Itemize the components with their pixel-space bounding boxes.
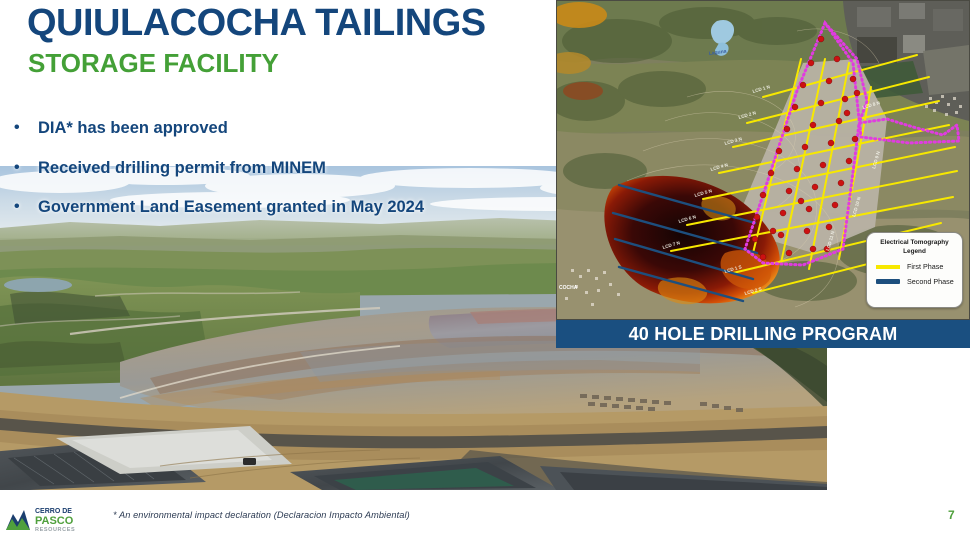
list-item: • DIA* has been approved (12, 118, 532, 139)
first-phase-swatch-icon (876, 265, 900, 269)
slide-root: QUIULACOCHA TAILINGS STORAGE FACILITY • … (0, 0, 978, 538)
svg-text:COCHA: COCHA (559, 285, 578, 291)
list-item: • Government Land Easement granted in Ma… (12, 197, 532, 218)
bullet-marker-icon: • (12, 158, 38, 178)
banner-label: 40 HOLE DRILLING PROGRAM (629, 324, 898, 345)
legend-entry-first-phase: First Phase (872, 262, 957, 271)
legend-title-line1: Electrical Tomography (880, 239, 948, 246)
page-title: QUIULACOCHA TAILINGS (27, 4, 486, 44)
company-logo: CERRO DE PASCO RESOURCES (5, 504, 77, 534)
list-item: • Received drilling permit from MINEM (12, 158, 532, 179)
legend-entry-label: First Phase (907, 262, 943, 271)
svg-text:PASCO: PASCO (35, 515, 74, 527)
second-phase-swatch-icon (876, 279, 900, 284)
list-item-label: Government Land Easement granted in May … (38, 197, 424, 218)
svg-text:CERRO DE: CERRO DE (35, 508, 72, 515)
map-legend: Electrical Tomography Legend First Phase… (866, 232, 963, 308)
page-number: 7 (948, 508, 955, 522)
list-item-label: DIA* has been approved (38, 118, 228, 139)
bullet-marker-icon: • (12, 197, 38, 217)
legend-title-line2: Legend (903, 248, 926, 255)
list-item-label: Received drilling permit from MINEM (38, 158, 326, 179)
svg-text:RESOURCES: RESOURCES (35, 527, 75, 533)
page-subtitle: STORAGE FACILITY (28, 50, 279, 77)
legend-title: Electrical Tomography Legend (872, 239, 957, 256)
bullet-list: • DIA* has been approved • Received dril… (12, 118, 532, 237)
legend-entry-second-phase: Second Phase (872, 277, 957, 286)
bullet-marker-icon: • (12, 118, 38, 138)
drilling-program-banner: 40 HOLE DRILLING PROGRAM (556, 320, 970, 348)
legend-entry-label: Second Phase (907, 277, 954, 286)
footnote-text: * An environmental impact declaration (D… (113, 510, 410, 520)
